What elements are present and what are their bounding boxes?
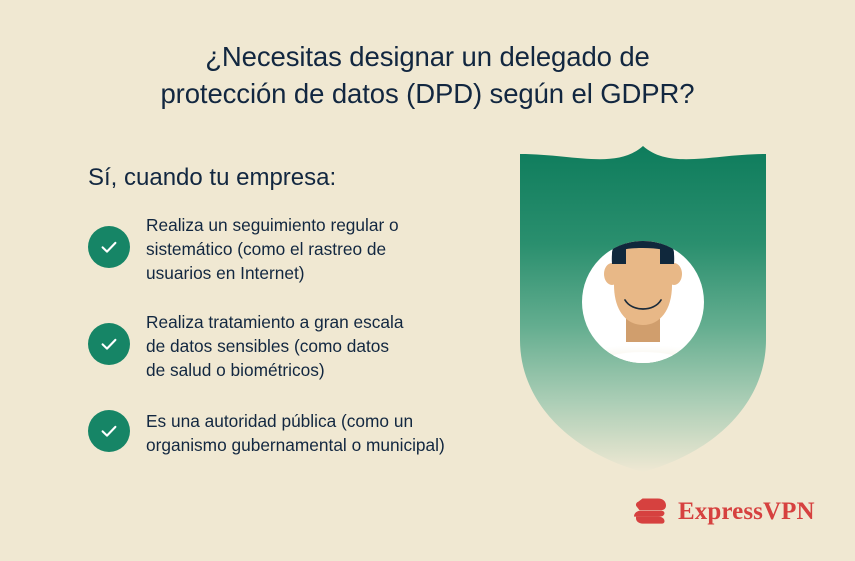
list-item: Realiza un seguimiento regular o sistemá…: [88, 212, 518, 285]
list-item: Es una autoridad pública (como un organi…: [88, 408, 518, 457]
expressvpn-e-mark-icon: [633, 497, 667, 525]
list-item: Realiza tratamiento a gran escala de dat…: [88, 309, 518, 382]
shield-illustration: [508, 142, 788, 482]
check-icon: [88, 226, 130, 268]
bullet-list: Realiza un seguimiento regular o sistemá…: [88, 212, 518, 479]
check-icon: [88, 323, 130, 365]
list-item-label: Realiza tratamiento a gran escala de dat…: [146, 309, 403, 382]
expressvpn-logo: ExpressVPN: [633, 494, 815, 528]
title-line-1: ¿Necesitas designar un delegado de: [0, 38, 855, 75]
subtitle: Sí, cuando tu empresa:: [88, 163, 336, 193]
title-line-2: protección de datos (DPD) según el GDPR?: [0, 75, 855, 112]
list-item-label: Realiza un seguimiento regular o sistemá…: [146, 212, 399, 285]
check-icon: [88, 410, 130, 452]
expressvpn-logo-text: ExpressVPN: [678, 499, 815, 524]
list-item-label: Es una autoridad pública (como un organi…: [146, 408, 445, 457]
page-title: ¿Necesitas designar un delegado de prote…: [0, 38, 855, 112]
infographic-canvas: ¿Necesitas designar un delegado de prote…: [0, 0, 855, 561]
